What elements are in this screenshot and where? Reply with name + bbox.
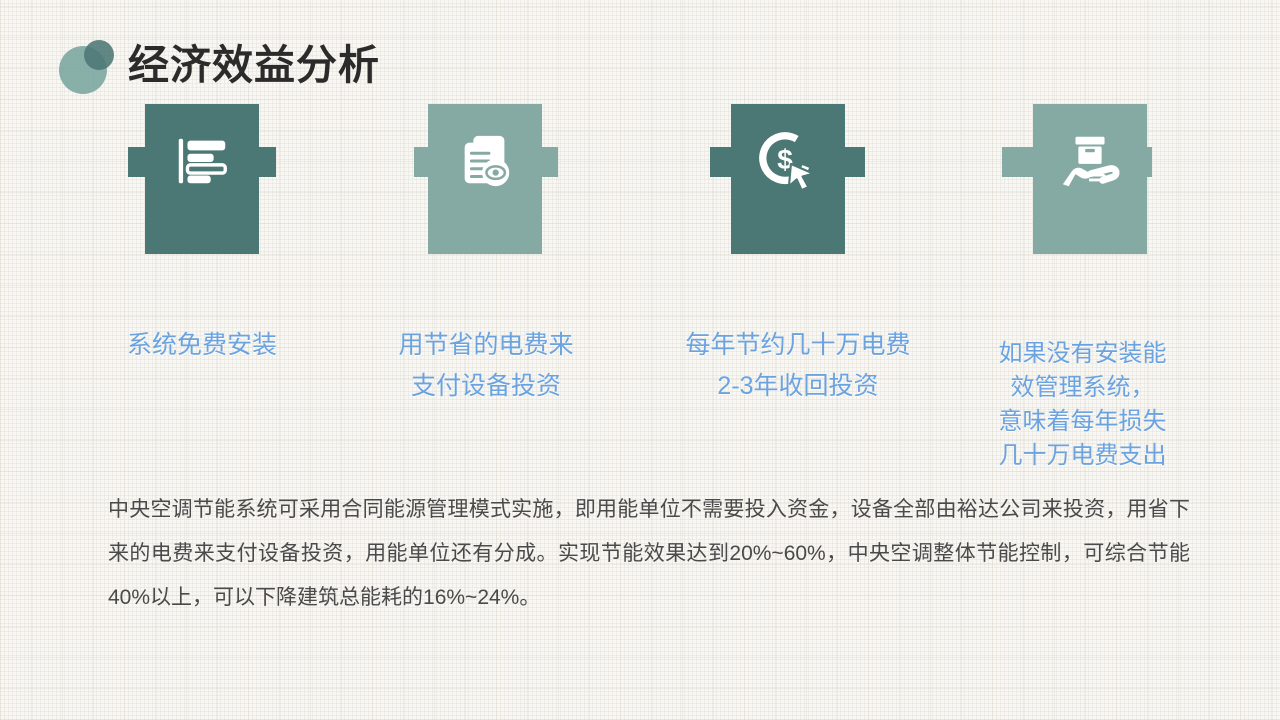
caption-2-line-2: 支付设备投资	[355, 366, 617, 407]
caption-4-line-4: 几十万电费支出	[965, 439, 1200, 473]
caption-2-line-1: 用节省的电费来	[355, 325, 617, 366]
pin-column-3: $	[678, 104, 898, 254]
caption-3-line-1: 每年节约几十万电费	[648, 325, 948, 366]
circle-small-icon	[84, 40, 114, 70]
map-pin-2[interactable]	[428, 104, 542, 254]
caption-1-line-1: 系统免费安装	[72, 325, 332, 366]
caption-3-line-2: 2-3年收回投资	[648, 366, 948, 407]
caption-4: 如果没有安装能 效管理系统， 意味着每年损失 几十万电费支出	[965, 337, 1200, 473]
body-paragraph: 中央空调节能系统可采用合同能源管理模式实施，即用能单位不需要投入资金，设备全部由…	[108, 488, 1190, 620]
dollar-coin-cursor-icon: $	[757, 130, 819, 192]
caption-1: 系统免费安装	[72, 325, 332, 366]
document-review-eye-icon	[454, 130, 516, 192]
map-pin-4[interactable]	[1033, 104, 1147, 254]
caption-3: 每年节约几十万电费 2-3年收回投资	[648, 325, 948, 407]
page-title: 经济效益分析	[128, 34, 380, 96]
caption-4-line-3: 意味着每年损失	[965, 405, 1200, 439]
map-pin-1[interactable]	[145, 104, 259, 254]
slide-canvas: 经济效益分析	[0, 0, 1280, 720]
caption-4-line-1: 如果没有安装能	[965, 337, 1200, 371]
hand-holding-box-icon	[1059, 130, 1121, 192]
caption-2: 用节省的电费来 支付设备投资	[355, 325, 617, 407]
pin-column-1	[92, 104, 312, 254]
pin-column-2	[375, 104, 595, 254]
caption-4-line-2: 效管理系统，	[965, 371, 1200, 405]
map-pin-3[interactable]: $	[731, 104, 845, 254]
pin-column-4	[980, 104, 1200, 254]
bar-chart-list-icon	[171, 130, 233, 192]
decorative-circles	[56, 38, 120, 96]
